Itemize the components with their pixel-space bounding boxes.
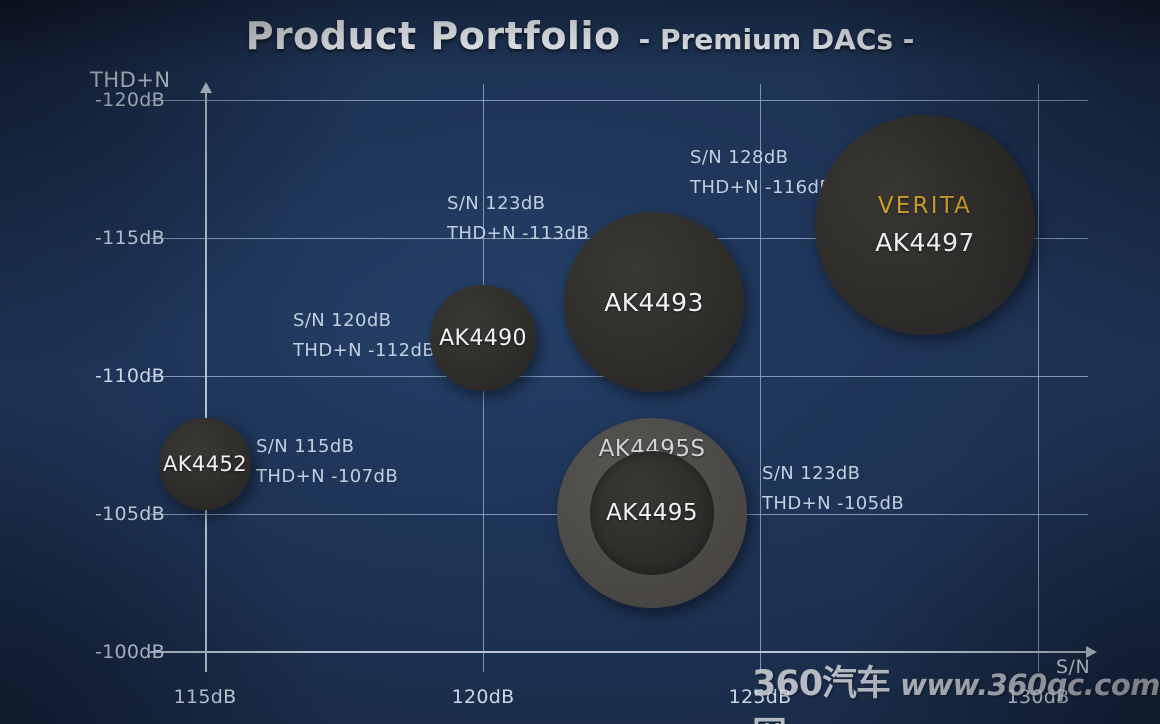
y-axis-line <box>205 92 207 672</box>
x-tick-label-2: 125dB <box>700 686 820 708</box>
y-tick-label-2: -110dB <box>60 365 165 387</box>
x-tick-label-1: 120dB <box>423 686 543 708</box>
bubble-ak4497[interactable]: VERITA AK4497 <box>815 115 1035 335</box>
annotation-ak4452-thdn: THD+N -107dB <box>256 462 398 492</box>
title-main: Product Portfolio <box>246 14 621 58</box>
bubble-label-ak4452: AK4452 <box>163 452 247 476</box>
brand-label-verita: VERITA <box>878 193 972 219</box>
bubble-ak4493[interactable]: AK4493 <box>564 212 744 392</box>
annotation-ak4493-thdn: THD+N -113dB <box>447 219 589 249</box>
annotation-ak4490-thdn: THD+N -112dB <box>293 336 435 366</box>
x-tick-label-0: 115dB <box>145 686 265 708</box>
page-title: Product Portfolio- Premium DACs - <box>0 14 1160 58</box>
gridline-x-130db <box>1038 84 1039 672</box>
annotation-ak4490-sn: S/N 120dB <box>293 306 435 336</box>
y-tick-label-0: -120dB <box>60 89 165 111</box>
y-tick-label-3: -105dB <box>60 503 165 525</box>
slide-canvas: Product Portfolio- Premium DACs - THD+N … <box>0 0 1160 724</box>
bubble-ak4495s[interactable]: AK4495S AK4495 <box>557 418 747 608</box>
x-axis-label: S/N <box>1056 656 1090 678</box>
y-tick-label-1: -115dB <box>60 227 165 249</box>
annotation-ak4493-sn: S/N 123dB <box>447 189 589 219</box>
title-subtitle: - Premium DACs - <box>639 23 915 56</box>
bubble-label-ak4497: AK4497 <box>875 228 975 257</box>
annotation-ak4497-thdn: THD+N -116dB <box>690 173 832 203</box>
bubble-label-ak4495: AK4495 <box>606 500 698 526</box>
y-tick-label-4: -100dB <box>60 641 165 663</box>
bubble-ak4490[interactable]: AK4490 <box>430 285 536 391</box>
annotation-ak4495-thdn: THD+N -105dB <box>762 489 904 519</box>
annotation-ak4490: S/N 120dB THD+N -112dB <box>293 306 435 366</box>
annotation-ak4497-sn: S/N 128dB <box>690 143 832 173</box>
annotation-ak4452-sn: S/N 115dB <box>256 432 398 462</box>
y-axis-arrow <box>200 82 212 93</box>
x-axis-line <box>150 651 1088 653</box>
bubble-ak4452[interactable]: AK4452 <box>159 418 251 510</box>
annotation-ak4495: S/N 123dB THD+N -105dB <box>762 459 904 519</box>
annotation-ak4495-sn: S/N 123dB <box>762 459 904 489</box>
annotation-ak4497: S/N 128dB THD+N -116dB <box>690 143 832 203</box>
vignette-overlay <box>0 0 1160 724</box>
bubble-label-ak4490: AK4490 <box>439 326 527 351</box>
x-tick-label-3: 130dB <box>978 686 1098 708</box>
bubble-ak4495[interactable]: AK4495 <box>590 451 714 575</box>
bubble-label-ak4493: AK4493 <box>604 288 704 317</box>
gridline-y--120db <box>150 100 1088 101</box>
annotation-ak4493: S/N 123dB THD+N -113dB <box>447 189 589 249</box>
annotation-ak4452: S/N 115dB THD+N -107dB <box>256 432 398 492</box>
